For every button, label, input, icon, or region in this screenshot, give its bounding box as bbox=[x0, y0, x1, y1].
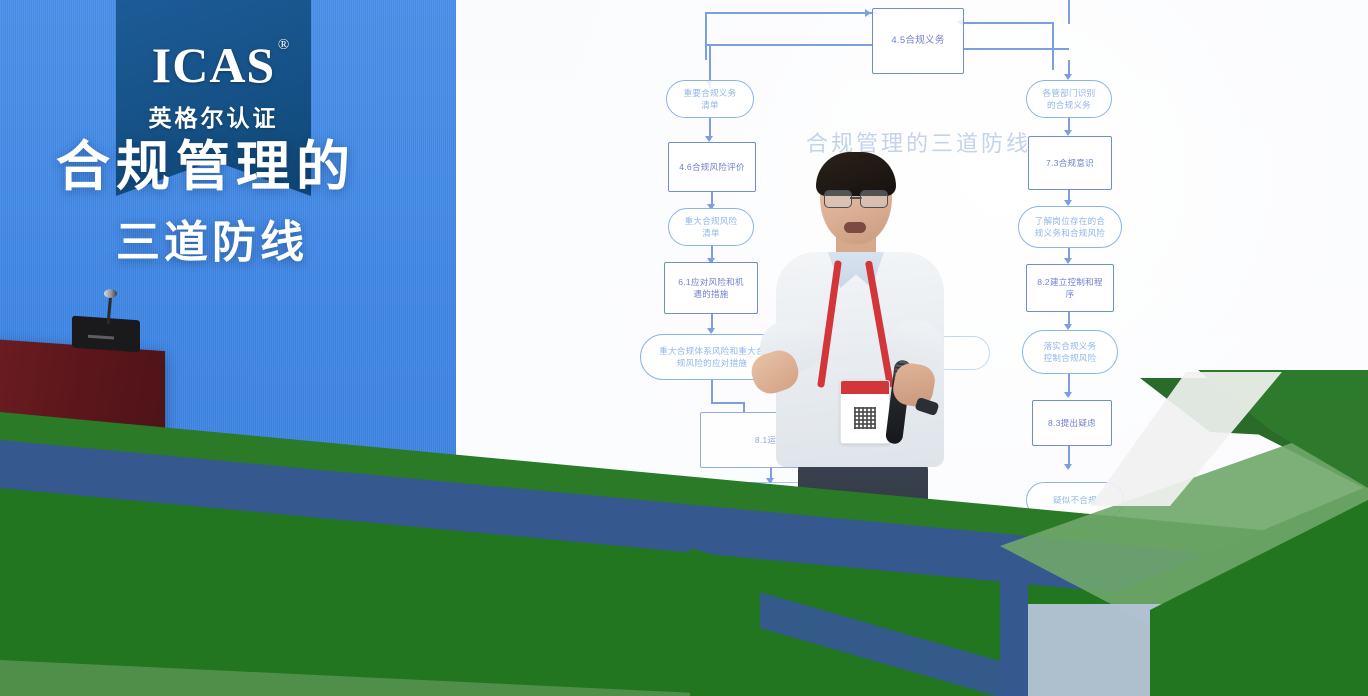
flow-node-label: 落实合规义务 控制合规风险 bbox=[1044, 340, 1097, 365]
flow-node-4-5: 4.5合规义务 bbox=[872, 8, 964, 74]
flow-node-label: 6.1应对风险和机 遇的措施 bbox=[678, 276, 744, 301]
audience-head bbox=[1000, 546, 1060, 602]
podium-mic-head bbox=[104, 289, 117, 298]
badge-header bbox=[841, 381, 889, 394]
flow-node-4-6: 4.6合规风险评价 bbox=[668, 142, 756, 192]
qr-code-icon bbox=[854, 407, 876, 429]
flow-connector bbox=[963, 48, 1069, 50]
flow-node-6-1: 6.1应对风险和机 遇的措施 bbox=[664, 262, 758, 314]
flow-node-suspected-noncompliance: 疑似不合规 bbox=[1026, 482, 1124, 518]
flow-node-post-obligations-risks: 了解岗位存在的合 规义务和合规风险 bbox=[1018, 206, 1122, 248]
flow-connector bbox=[1052, 22, 1054, 70]
eyeglasses-icon bbox=[824, 190, 888, 207]
flow-connector bbox=[743, 402, 745, 412]
flow-node-7-3: 7.3合规意识 bbox=[1028, 136, 1112, 190]
flow-node-label: 重大合规体系风险和重大合 规风险的应对措施 bbox=[659, 345, 765, 370]
flow-node-major-risk-list: 重大合规风险 清单 bbox=[668, 208, 754, 246]
audience-head bbox=[1212, 540, 1276, 598]
podium bbox=[0, 339, 165, 461]
flow-node-label: 8.3提出疑虑 bbox=[1048, 417, 1096, 429]
flow-node-8-3: 8.3提出疑虑 bbox=[1032, 400, 1112, 446]
wall-headline-top: 合规管理的 bbox=[56, 122, 456, 201]
flow-arrow bbox=[1064, 464, 1072, 470]
icas-logo-text: ICAS bbox=[152, 37, 275, 93]
flow-arrow bbox=[865, 9, 871, 17]
flow-connector bbox=[711, 380, 713, 402]
flow-node-important-obligations: 重要合规义务 清单 bbox=[666, 80, 754, 118]
presentation-photo: 4.5合规义务 重要合规义务 清单 4.6合规风险评价 重大合规风险 清单 6.… bbox=[0, 0, 1368, 696]
flow-connector bbox=[1068, 0, 1070, 24]
lens-right bbox=[860, 190, 888, 208]
flow-connector bbox=[705, 44, 873, 46]
flow-node-label: 重大合规风险 清单 bbox=[685, 215, 738, 240]
flow-connector bbox=[711, 402, 743, 404]
conference-badge bbox=[840, 380, 890, 444]
wall-headline-bottom: 三道防线 bbox=[116, 206, 456, 270]
flow-connector bbox=[705, 12, 877, 14]
flow-node-label: 4.5合规义务 bbox=[891, 34, 944, 48]
audience-head bbox=[622, 536, 688, 594]
flow-node-label: 4.6合规风险评价 bbox=[679, 161, 745, 173]
flow-connector bbox=[705, 12, 707, 60]
flow-arrow bbox=[1064, 392, 1072, 398]
lens-left bbox=[824, 190, 852, 208]
flow-arrow bbox=[1064, 534, 1072, 540]
flow-node-label: 8.2建立控制和程 序 bbox=[1037, 276, 1103, 301]
speaker-mouth bbox=[844, 222, 866, 233]
flow-node-dept-identified-obligations: 各管部门识别 的合规义务 bbox=[1026, 80, 1112, 118]
flow-node-label: 7.3合规意识 bbox=[1046, 157, 1094, 169]
flow-connector bbox=[963, 22, 1053, 24]
flow-node-label: 各管部门识别 的合规义务 bbox=[1043, 87, 1096, 112]
icas-logo: ICAS® bbox=[152, 40, 275, 90]
flow-node-label: 疑似不合规 bbox=[1053, 494, 1097, 506]
speaker-leg-gap bbox=[856, 504, 870, 634]
flow-node-label: 了解岗位存在的合 规义务和合规风险 bbox=[1035, 215, 1105, 240]
flow-node-label: 重要合规义务 清单 bbox=[684, 87, 737, 112]
flow-node-implement-obligations: 落实合规义务 控制合规风险 bbox=[1022, 330, 1118, 374]
registered-trademark-icon: ® bbox=[278, 38, 290, 53]
flow-node-8-2: 8.2建立控制和程 序 bbox=[1026, 264, 1114, 312]
speaker-figure bbox=[756, 152, 986, 622]
